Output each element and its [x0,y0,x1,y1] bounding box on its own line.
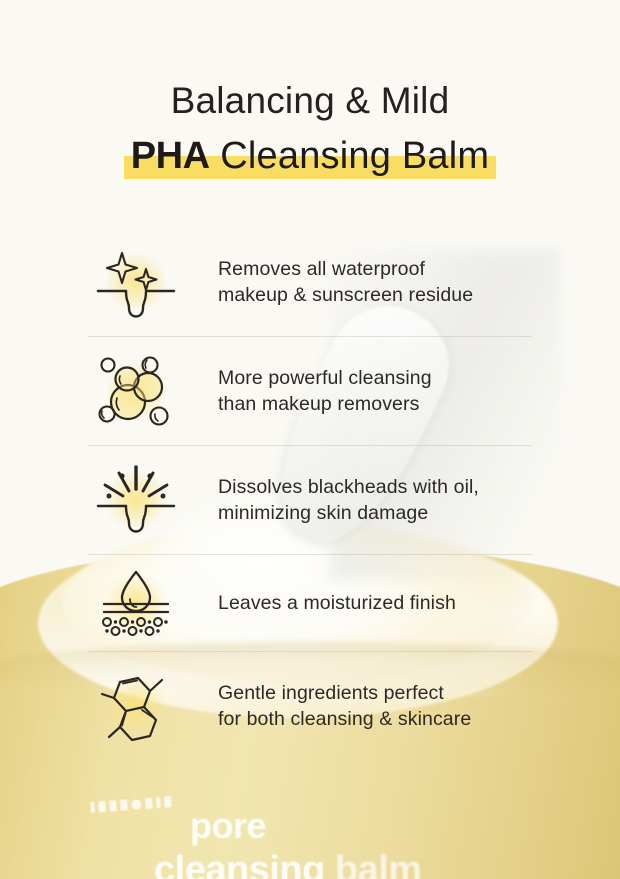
feature-text-line: More powerful cleansing [218,365,432,391]
feature-text-line: for both cleansing & skincare [218,706,471,732]
title-line-2-wrapper: PHA Cleansing Balm [131,130,489,182]
blackhead-burst-pore-icon [88,460,184,540]
title-line-2-rest: Cleansing Balm [210,135,490,177]
feature-text: Gentle ingredients perfect for both clea… [184,680,471,732]
product-label: pore cleansing balm [86,786,546,879]
jar-label-cleansing: cleansing [154,849,325,879]
feature-row: Removes all waterproof makeup & sunscree… [88,228,532,336]
jar-label-line-1: pore [190,805,546,847]
feature-text-line: Dissolves blackheads with oil, [218,474,479,500]
feature-row: More powerful cleansing than makeup remo… [88,336,532,445]
jar-label-balm: balm [325,849,422,879]
feature-row: Dissolves blackheads with oil, minimizin… [88,445,532,554]
feature-text: Leaves a moisturized finish [184,590,456,616]
feature-text-line: minimizing skin damage [218,500,479,526]
brand-logo-mark [90,770,546,813]
product-infographic: Balancing & Mild PHA Cleansing Balm Remo… [0,0,620,879]
feature-text-line: than makeup removers [218,391,432,417]
feature-text-line: Gentle ingredients perfect [218,680,471,706]
title-line-2: PHA Cleansing Balm [131,130,489,182]
feature-text: Dissolves blackheads with oil, minimizin… [184,474,479,526]
feature-row: Leaves a moisturized finish [88,554,532,651]
title-pha-emphasis: PHA [131,135,210,177]
feature-text-line: makeup & sunscreen residue [218,282,473,308]
bubbles-icon [88,351,184,431]
feature-text: More powerful cleansing than makeup remo… [184,365,432,417]
molecule-hexagon-icon [88,666,184,746]
feature-text-line: Removes all waterproof [218,256,473,282]
feature-text: Removes all waterproof makeup & sunscree… [184,256,473,308]
jar-label-line-2: cleansing balm [154,847,546,879]
feature-text-line: Leaves a moisturized finish [218,590,456,616]
feature-row: Gentle ingredients perfect for both clea… [88,651,532,760]
title-line-1: Balancing & Mild [0,76,620,126]
feature-list: Removes all waterproof makeup & sunscree… [88,228,532,760]
page-title: Balancing & Mild PHA Cleansing Balm [0,76,620,182]
water-drop-hydration-icon [88,563,184,643]
sparkle-pore-icon [88,242,184,322]
